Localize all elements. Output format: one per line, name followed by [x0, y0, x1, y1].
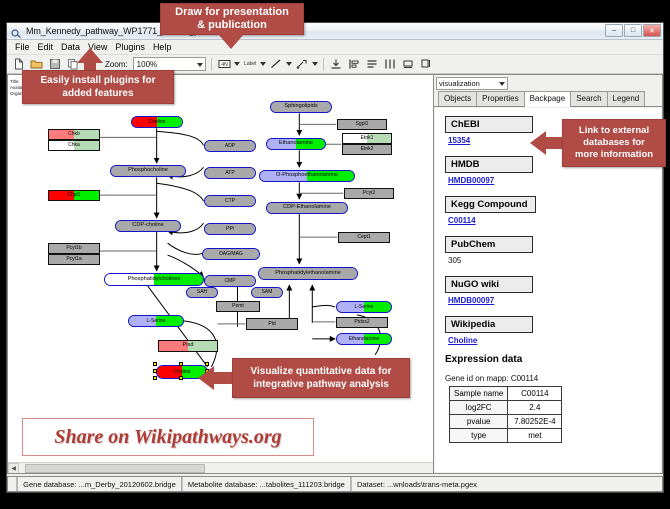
gene-node-sgpl1[interactable]: Sgpl1 — [337, 119, 387, 130]
status-sep-0: | — [15, 475, 19, 493]
metabolite-node-atp[interactable]: ATP — [204, 167, 256, 179]
node-label: Phosphocholine — [128, 168, 168, 174]
kegg-header: Kegg Compound — [445, 196, 536, 213]
zoom-value: 100% — [137, 60, 157, 69]
metabolite-node-cdp-ethanolamine[interactable]: CDP-Ethanolamine — [266, 202, 348, 214]
node-label: Pcyt1b — [66, 246, 81, 251]
canvas-hscrollbar[interactable]: ◀ — [8, 462, 433, 473]
visualize-callout-stem — [214, 372, 234, 384]
title-bar: Mm_Kennedy_pathway_WP1771_45176.gpml – □… — [7, 23, 663, 40]
node-label: Ethanolamine — [279, 141, 313, 147]
tab-legend[interactable]: Legend — [607, 91, 646, 106]
node-label: L-Serine — [147, 319, 166, 324]
align-bottom-icon[interactable] — [329, 57, 344, 72]
cell-type-key: type — [450, 429, 508, 443]
menu-help[interactable]: Help — [150, 41, 177, 53]
scroll-left-icon[interactable]: ◀ — [8, 463, 19, 474]
distribute-icon[interactable] — [383, 57, 398, 72]
expression-table: Sample name C00114 log2FC 2.4 pvalue 7.8… — [449, 386, 562, 443]
selection-handle[interactable] — [179, 376, 183, 380]
menu-file[interactable]: File — [12, 41, 35, 53]
cell-log2fc-value: 2.4 — [508, 401, 562, 415]
node-label: Choline — [149, 120, 166, 125]
gene-node-chkb[interactable]: Chkb — [48, 129, 100, 140]
node-label: PPi — [226, 227, 234, 232]
node-label: Ptdss2 — [354, 320, 369, 325]
node-label: Chkb — [68, 132, 80, 137]
stack-icon[interactable] — [365, 57, 380, 72]
metabolite-node-cmp[interactable]: CMP — [204, 275, 256, 287]
receptor-chevron-icon[interactable] — [312, 62, 318, 66]
draw-callout-arrow-icon — [218, 34, 244, 49]
maximize-button[interactable]: □ — [624, 24, 642, 37]
gene-node-pisd[interactable]: Pisd — [158, 340, 218, 352]
plugins-callout: Easily install plugins for added feature… — [22, 70, 174, 104]
metabolite-node-ethanolamine[interactable]: Ethanolamine — [266, 138, 326, 150]
nugo-header: NuGO wiki — [445, 276, 533, 293]
backpage-entry-nugo: NuGO wiki HMDB00097 — [445, 274, 661, 305]
pathway-canvas[interactable]: Title: Availa Organi — [7, 74, 433, 474]
backpage-entry-kegg: Kegg Compound C00114 — [445, 194, 661, 225]
node-label: Phosphatidylcholines — [128, 277, 181, 283]
metabolite-node-l-serine[interactable]: L-Serine — [336, 301, 392, 313]
kegg-link[interactable]: C00114 — [448, 216, 661, 225]
node-label: Chpt1 — [67, 193, 80, 198]
node-label: SAM — [262, 290, 273, 295]
node-label: Etnk1 — [361, 136, 374, 141]
wikipedia-link[interactable]: Choline — [448, 336, 661, 345]
close-button[interactable]: ✕ — [643, 24, 661, 37]
metabolite-node-sah[interactable]: SAH — [186, 287, 218, 298]
cell-log2fc-key: log2FC — [450, 401, 508, 415]
menu-bar: File Edit Data View Plugins Help — [7, 40, 663, 55]
visualization-combo-value: visualization — [439, 79, 480, 88]
node-label: L-Serine — [355, 305, 374, 310]
cell-pvalue-value: 7.80252E-4 — [508, 415, 562, 429]
node-label: SAH — [197, 290, 207, 295]
visualization-row: visualization — [434, 75, 662, 91]
metabolite-node-ctp[interactable]: CTP — [204, 195, 256, 207]
link-callout-text: Link to external databases for more info… — [575, 125, 653, 161]
node-label: Pisd — [183, 343, 194, 349]
line-chevron-icon[interactable] — [286, 62, 292, 66]
chevron-down-icon — [499, 82, 505, 86]
visualization-combo[interactable]: visualization — [436, 77, 508, 90]
cell-type-value: met — [508, 429, 562, 443]
link-callout: Link to external databases for more info… — [562, 119, 666, 167]
app-icon — [11, 26, 22, 37]
zoom-label: Zoom: — [105, 60, 128, 69]
tab-backpage[interactable]: Backpage — [524, 91, 572, 107]
toolbar-separator — [211, 58, 212, 71]
gene-node-ptdss2[interactable]: Ptdss2 — [336, 317, 388, 328]
status-sep-2: | — [349, 475, 353, 493]
label-icon[interactable]: Label — [243, 57, 258, 72]
node-label: CDP-choline — [132, 223, 163, 229]
node-label: ADP — [225, 144, 235, 149]
metabolite-node-phosphatidylcholines[interactable]: Phosphatidylcholines — [104, 273, 204, 286]
node-label: Pcyt1a — [66, 257, 81, 262]
order-icon[interactable] — [419, 57, 434, 72]
node-label: Cept1 — [357, 235, 370, 240]
selection-handle[interactable] — [153, 369, 157, 373]
gene-id-caption: Gene id on mapp: C00114 — [445, 374, 661, 383]
backpage-entry-pubchem: PubChem 305 — [445, 234, 661, 265]
node-label: ATP — [225, 171, 234, 176]
status-metabolite-database: Metabolite database: ...tabolites_111203… — [188, 480, 345, 489]
menu-edit[interactable]: Edit — [35, 41, 59, 53]
datanode-chevron-icon[interactable] — [234, 62, 240, 66]
chebi-header: ChEBI — [445, 116, 533, 133]
datanode-icon[interactable]: 4N — [217, 57, 232, 72]
status-gene-database: Gene database: ...m_Derby_20120602.bridg… — [23, 480, 176, 489]
gene-node-pemt[interactable]: Pemt — [216, 301, 260, 312]
node-label: CDP-Ethanolamine — [283, 205, 331, 211]
table-row: type met — [450, 429, 562, 443]
selection-handle[interactable] — [153, 362, 157, 366]
tab-search[interactable]: Search — [570, 91, 607, 106]
metabolite-node-sam[interactable]: SAM — [251, 287, 283, 298]
node-label: CTP — [225, 199, 235, 204]
hmdb-link[interactable]: HMDB00097 — [448, 176, 661, 185]
plugins-callout-arrow-icon — [77, 48, 103, 63]
selection-handle[interactable] — [179, 362, 183, 366]
cell-sample-name-value: C00114 — [508, 387, 562, 401]
node-label: Sgpl1 — [356, 122, 369, 127]
pubchem-header: PubChem — [445, 236, 533, 253]
line-icon[interactable] — [269, 57, 284, 72]
minimize-button[interactable]: – — [605, 24, 623, 37]
receptor-icon[interactable] — [295, 57, 310, 72]
gene-node-etnk2[interactable]: Etnk2 — [342, 144, 392, 155]
metabolite-node-adp[interactable]: ADP — [204, 140, 256, 152]
node-label: Ethanolamine — [349, 337, 380, 342]
label-chevron-icon[interactable] — [260, 62, 266, 66]
node-label: Etnk2 — [361, 147, 374, 152]
node-label: CMP — [224, 279, 235, 284]
group-icon[interactable] — [401, 57, 416, 72]
metabolite-node-phosphatidylethanolamine[interactable]: Phosphatidylethanolamine — [258, 267, 358, 280]
align-left-icon[interactable] — [347, 57, 362, 72]
status-sep-1: | — [180, 475, 184, 493]
tab-objects[interactable]: Objects — [438, 91, 477, 106]
status-bar: | Gene database: ...m_Derby_20120602.bri… — [7, 476, 663, 492]
visualize-callout-arrow-icon — [198, 366, 214, 390]
expression-data-heading: Expression data — [445, 354, 661, 365]
plugins-callout-text: Easily install plugins for added feature… — [40, 74, 155, 100]
node-label: Phosphatidylethanolamine — [275, 271, 341, 277]
node-label: Pemt — [232, 304, 244, 309]
metabolite-node-o-phosphoethanolamine[interactable]: O-Phosphoethanolamine — [259, 170, 355, 182]
metabolite-node-sphingolipids[interactable]: Sphingolipids — [270, 101, 332, 113]
table-row: log2FC 2.4 — [450, 401, 562, 415]
node-label: Chka — [68, 143, 80, 148]
hmdb-header: HMDB — [445, 156, 533, 173]
share-callout: Share on Wikipathways.org — [22, 418, 314, 456]
gene-node-cept1[interactable]: Cept1 — [338, 232, 390, 243]
node-label: DAG/MAG — [219, 252, 243, 257]
metabolite-node-ethanolamine[interactable]: Ethanolamine — [336, 333, 392, 345]
gene-node-chka[interactable]: Chka — [48, 140, 100, 151]
wikipedia-header: Wikipedia — [445, 316, 533, 333]
link-callout-arrow-icon — [530, 131, 546, 155]
metabolite-node-dag-mag[interactable]: DAG/MAG — [202, 248, 260, 260]
zoom-combo[interactable]: 100% — [133, 57, 206, 71]
backpage-entry-wikipedia: Wikipedia Choline — [445, 314, 661, 345]
visualize-callout: Visualize quantitative data for integrat… — [232, 358, 410, 398]
draw-callout: Draw for presentation & publication — [160, 3, 304, 35]
gene-node-pcyt1b[interactable]: Pcyt1b — [48, 243, 100, 254]
metabolite-node-phosphocholine[interactable]: Phosphocholine — [110, 165, 186, 177]
screenshot-root: Mm_Kennedy_pathway_WP1771_45176.gpml – □… — [0, 0, 670, 509]
toolbar-separator-2 — [323, 58, 324, 71]
gene-node-etnk1[interactable]: Etnk1 — [342, 133, 392, 144]
selection-handle[interactable] — [153, 376, 157, 380]
cell-pvalue-key: pvalue — [450, 415, 508, 429]
window-buttons: – □ ✕ — [605, 24, 661, 37]
tab-properties[interactable]: Properties — [476, 91, 524, 106]
status-dataset: Dataset: ...wnloads\trans-meta.pgex — [357, 480, 477, 489]
node-label: Sphingolipids — [284, 104, 317, 110]
scroll-thumb[interactable] — [25, 464, 205, 473]
node-label: Pcyt2 — [363, 191, 376, 196]
metabolite-node-ppi[interactable]: PPi — [204, 223, 256, 235]
metabolite-node-l-serine[interactable]: L-Serine — [128, 315, 184, 327]
menu-plugins[interactable]: Plugins — [112, 41, 150, 53]
pubchem-value: 305 — [448, 256, 661, 265]
gene-node-pcyt2[interactable]: Pcyt2 — [344, 188, 394, 199]
svg-text:4N: 4N — [221, 62, 228, 68]
metabolite-node-cdp-choline[interactable]: CDP-choline — [115, 220, 181, 232]
table-row: Sample name C00114 — [450, 387, 562, 401]
node-label: O-Phosphoethanolamine — [276, 173, 338, 179]
gene-node-pld[interactable]: Pld — [246, 318, 298, 330]
chevron-down-icon — [197, 63, 203, 67]
node-label: Pld — [268, 322, 275, 327]
draw-callout-text: Draw for presentation & publication — [175, 6, 289, 32]
cell-sample-name-key: Sample name — [450, 387, 508, 401]
nugo-link[interactable]: HMDB00097 — [448, 296, 661, 305]
table-row: pvalue 7.80252E-4 — [450, 415, 562, 429]
gene-node-chpt1[interactable]: Chpt1 — [48, 190, 100, 201]
metabolite-node-choline[interactable]: Choline — [131, 116, 183, 128]
visualize-callout-text: Visualize quantitative data for integrat… — [251, 365, 392, 391]
node-label: Choline — [174, 370, 191, 375]
side-tabbar: Objects Properties Backpage Search Legen… — [434, 91, 662, 107]
share-callout-text: Share on Wikipathways.org — [54, 426, 281, 449]
gene-node-pcyt1a[interactable]: Pcyt1a — [48, 254, 100, 265]
